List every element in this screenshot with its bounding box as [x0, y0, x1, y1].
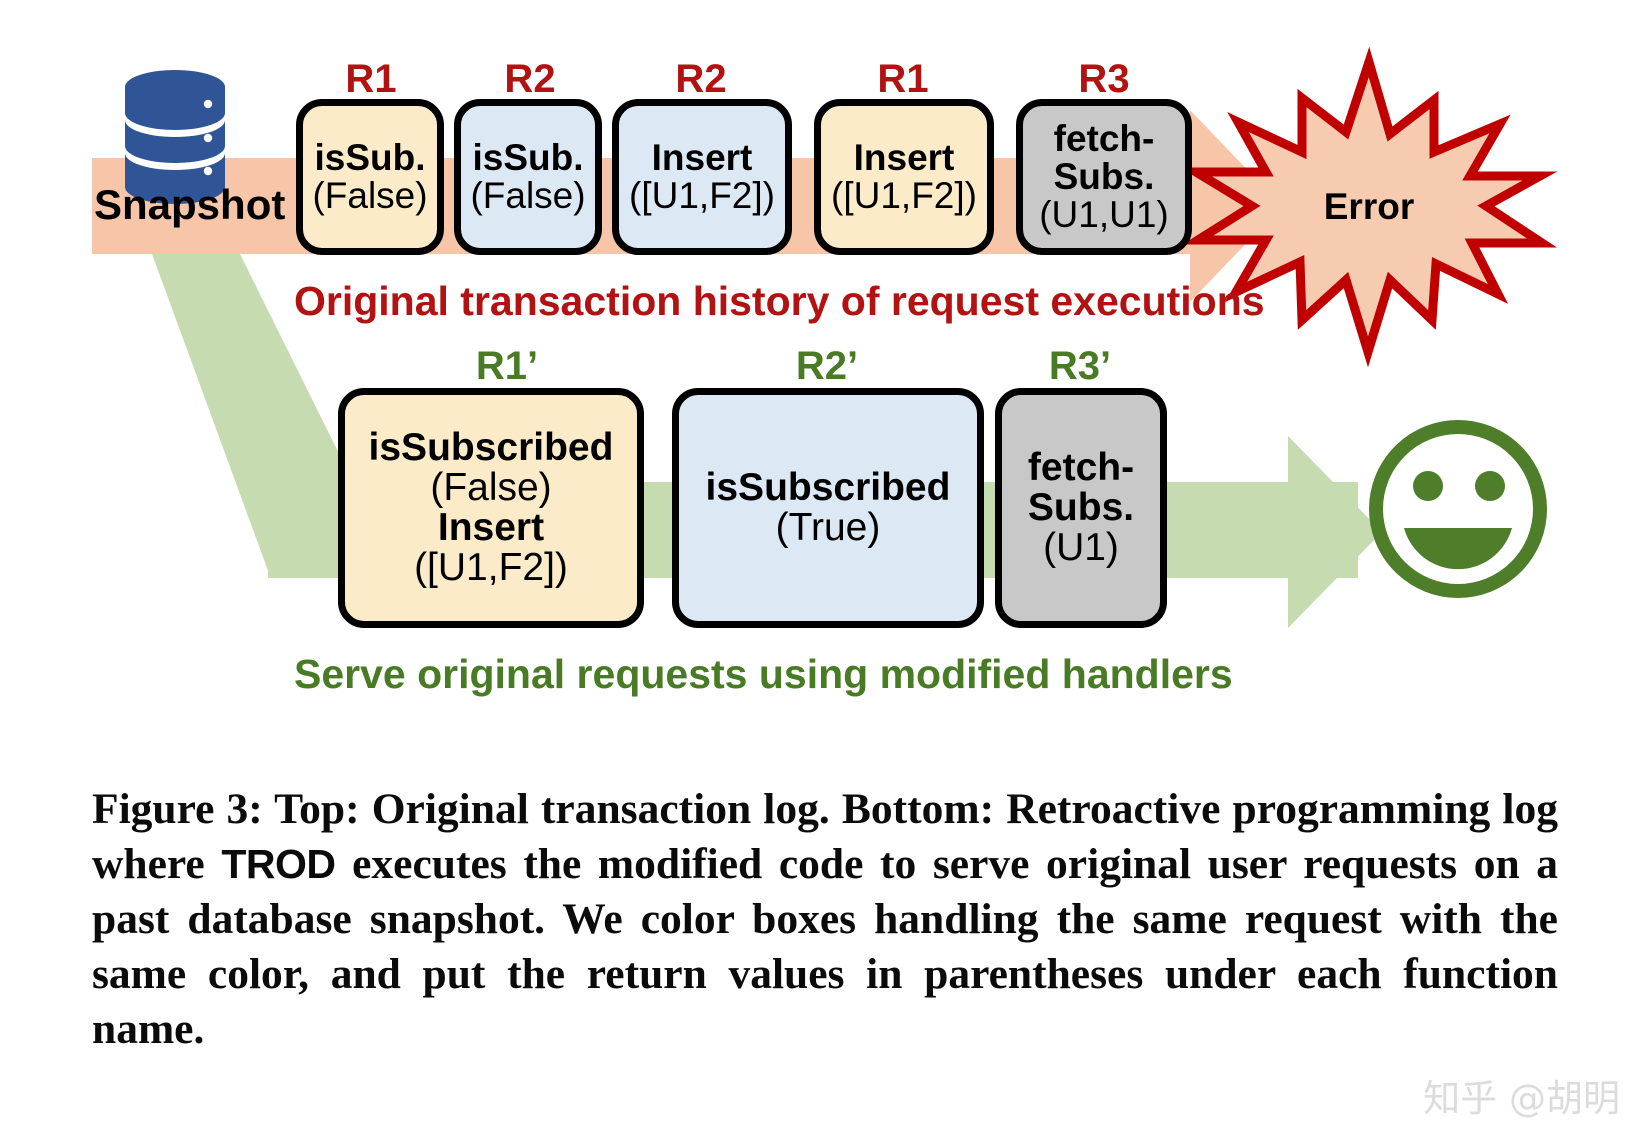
bottom-row-caption: Serve original requests using modified h…: [294, 651, 1233, 698]
return-value: (True): [776, 508, 881, 548]
request-label-top-4: R1: [877, 57, 928, 102]
transaction-box-top-2[interactable]: isSub. (False): [454, 99, 602, 255]
transaction-box-bottom-2[interactable]: isSubscribed (True): [672, 388, 984, 628]
caption-system-name: TROD: [221, 841, 335, 887]
top-row-caption: Original transaction history of request …: [294, 278, 1265, 325]
snapshot-label: Snapshot: [94, 181, 285, 229]
function-name: fetch- Subs.: [1054, 120, 1155, 195]
function-name: Insert: [652, 139, 753, 177]
transaction-box-top-4[interactable]: Insert ([U1,F2]): [814, 99, 994, 255]
function-name: isSub.: [472, 139, 583, 177]
return-value: ([U1,F2]): [629, 177, 775, 215]
return-value: (U1): [1043, 528, 1119, 568]
function-name-line-2: Subs.: [1028, 488, 1134, 528]
return-value-2: ([U1,F2]): [414, 548, 568, 588]
error-label: Error: [1324, 186, 1414, 228]
smiley-face-icon: [1376, 427, 1540, 591]
figure-canvas: Snapshot R1 R2 R2 R1 R3 isSub. (False) i…: [0, 0, 1648, 1144]
return-value: ([U1,F2]): [831, 177, 977, 215]
function-name: Insert: [854, 139, 955, 177]
return-value: (False): [312, 177, 427, 215]
request-label-bottom-1: R1’: [476, 344, 538, 389]
request-label-top-2: R2: [504, 57, 555, 102]
return-value: (U1,U1): [1039, 196, 1169, 234]
request-label-top-5: R3: [1078, 57, 1129, 102]
function-name-1: isSubscribed: [369, 428, 614, 468]
transaction-box-top-1[interactable]: isSub. (False): [296, 99, 444, 255]
request-label-bottom-3: R3’: [1049, 344, 1111, 389]
watermark: 知乎 @胡明: [1423, 1068, 1620, 1122]
figure-caption: Figure 3: Top: Original transaction log.…: [92, 782, 1558, 1057]
return-value: (False): [470, 177, 585, 215]
return-value-1: (False): [430, 468, 551, 508]
transaction-box-bottom-1[interactable]: isSubscribed (False) Insert ([U1,F2]): [338, 388, 644, 628]
function-name-2: Insert: [438, 508, 544, 548]
request-label-top-1: R1: [345, 57, 396, 102]
request-label-top-3: R2: [675, 57, 726, 102]
function-name: isSubscribed: [706, 468, 951, 508]
transaction-box-top-5[interactable]: fetch- Subs. (U1,U1): [1016, 99, 1192, 255]
function-name-line-1: fetch-: [1028, 448, 1134, 488]
transaction-box-bottom-3[interactable]: fetch- Subs. (U1): [995, 388, 1167, 628]
function-name: isSub.: [314, 139, 425, 177]
transaction-box-top-3[interactable]: Insert ([U1,F2]): [612, 99, 792, 255]
request-label-bottom-2: R2’: [796, 344, 858, 389]
